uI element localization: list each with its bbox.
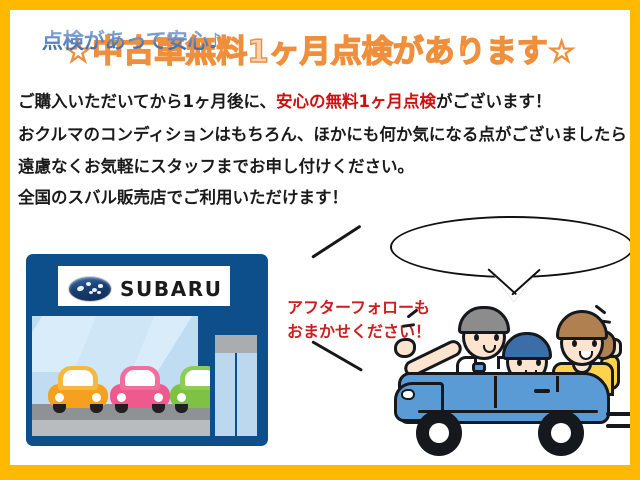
family-car-door-seam-front (494, 376, 497, 408)
body-line-1-post: がございます！ (436, 92, 552, 111)
body-line-1: ご購入いただいてから1ヶ月後に、安心の無料1ヶ月点検がございます！ (18, 88, 551, 112)
pointer-line-top (311, 225, 361, 259)
family-car-wheel-front (416, 410, 462, 456)
car-headlight-left (55, 393, 64, 402)
motion-line-2 (606, 424, 630, 428)
subaru-logo-icon (68, 276, 112, 302)
pointer-line-bottom (311, 340, 363, 372)
family-car-door-handle (534, 389, 550, 393)
body-line-2: おクルマのコンディションはもちろん、ほかにも何か気になる点がございましたら (18, 121, 627, 145)
car-headlight-right (92, 393, 101, 402)
logo-star-6 (97, 291, 101, 294)
car-headlight-left (117, 393, 126, 402)
wheel-hub (429, 423, 449, 443)
logo-star-1 (76, 285, 84, 292)
sparkle-left-1 (406, 308, 418, 318)
child-eye-right (536, 359, 541, 366)
shop-door-left (215, 353, 235, 436)
body-line-4: 全国のスバル販売店でご利用いただけます！ (18, 184, 348, 208)
poster-sheet: ☆中古車無料1ヶ月点検があります☆ ご購入いただいてから1ヶ月後に、安心の無料1… (10, 10, 630, 465)
father-eye-left (474, 334, 479, 341)
car-headlight-right (154, 393, 163, 402)
child-eye-left (517, 359, 522, 366)
shop-entrance-header (215, 335, 257, 353)
shop-door-right (237, 353, 257, 436)
body-line-1-pre: ご購入いただいてから1ヶ月後に、 (18, 92, 276, 111)
family-car-door-seam-rear (556, 376, 559, 392)
father-waving-hand (394, 338, 416, 358)
logo-star-5 (89, 291, 93, 294)
shop-signboard: SUBARU (56, 264, 232, 308)
car-window (63, 370, 93, 386)
car-headlight-left (177, 393, 186, 402)
car-window (125, 370, 155, 386)
brand-name: SUBARU (120, 277, 223, 301)
wheel-hub (551, 423, 571, 443)
mother-eye-right (592, 340, 597, 347)
family-car-wheel-rear (538, 410, 584, 456)
dealership-illustration: SUBARU (22, 254, 272, 464)
family-car-illustration (388, 290, 630, 465)
family-car-headlight (401, 389, 415, 400)
body-line-1-highlight: 安心の無料1ヶ月点検 (276, 92, 436, 111)
child-hair (502, 332, 552, 360)
speech-bubble-text: 点検があって安心♪ (10, 25, 254, 55)
motion-line-1 (606, 412, 630, 416)
logo-star-2 (86, 282, 91, 286)
sparkle-left-2 (402, 323, 415, 328)
logo-star-4 (98, 284, 103, 288)
body-line-3: 遠慮なくお気軽にスタッフまでお申し付けください。 (18, 153, 414, 177)
poster-frame: ☆中古車無料1ヶ月点検があります☆ ご購入いただいてから1ヶ月後に、安心の無料1… (0, 0, 640, 480)
